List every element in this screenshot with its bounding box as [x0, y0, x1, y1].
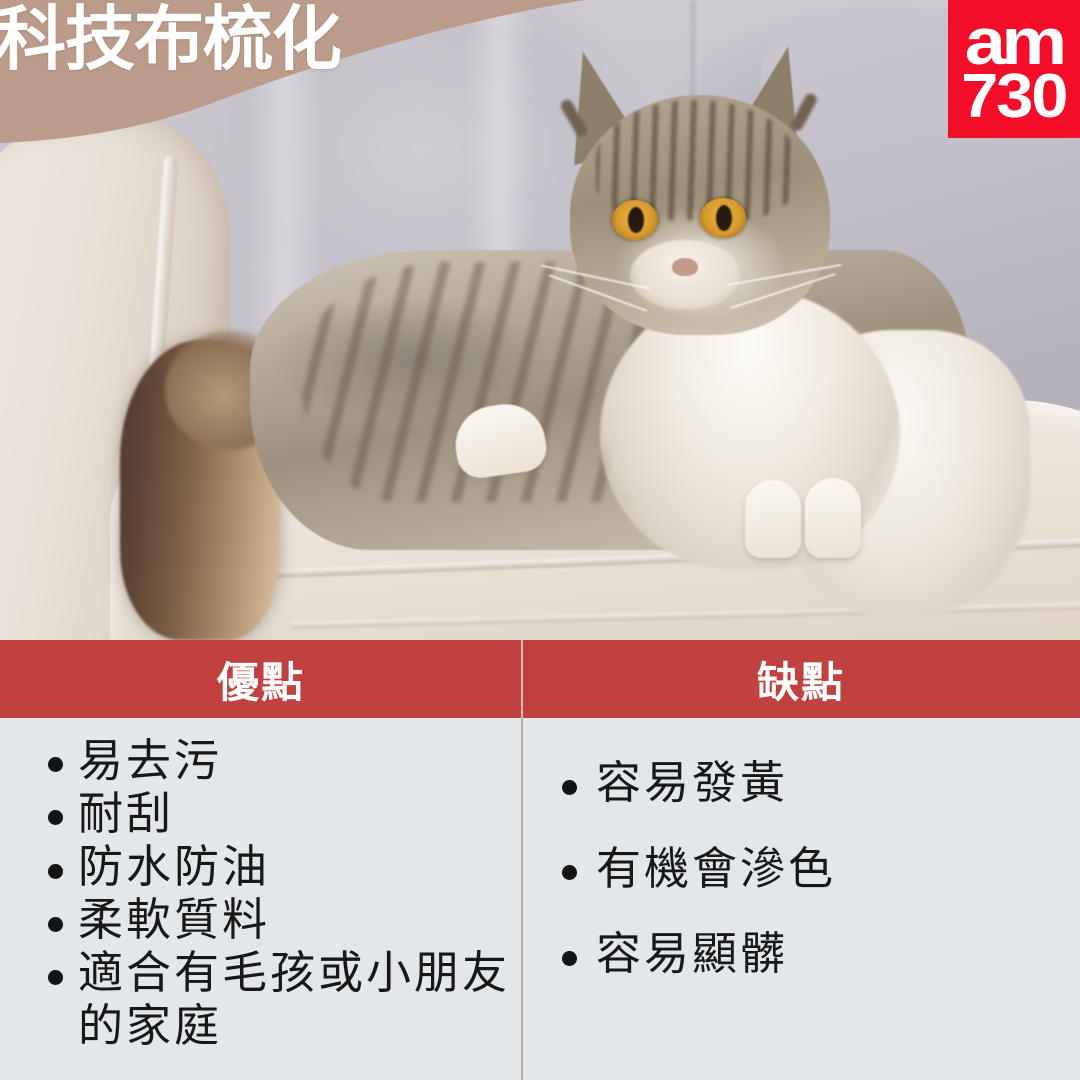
column-header-cons: 缺點	[522, 640, 1080, 718]
header-divider	[521, 640, 523, 718]
cat-paw-front-right	[745, 480, 801, 558]
page-title: 科技布梳化	[0, 4, 341, 74]
infographic-card: 科技布梳化 am 730 優點 缺點 易去污 耐刮 防水防油 柔軟質料 適合有毛…	[0, 0, 1080, 1080]
cons-list: 容易發黃 有機會滲色 容易顯髒	[522, 718, 1080, 997]
cat-pupil-left	[628, 207, 644, 233]
logo-text-730: 730	[961, 70, 1066, 123]
body-divider	[521, 718, 523, 1080]
cat-paw-front-right	[805, 478, 861, 558]
cell-pros: 易去污 耐刮 防水防油 柔軟質料 適合有毛孩或小朋友的家庭	[0, 718, 522, 1080]
pros-list: 易去污 耐刮 防水防油 柔軟質料 適合有毛孩或小朋友的家庭	[0, 718, 522, 1053]
list-item: 適合有毛孩或小朋友的家庭	[48, 946, 522, 1052]
table-header-row: 優點 缺點	[0, 640, 1080, 718]
pros-cons-table: 優點 缺點 易去污 耐刮 防水防油 柔軟質料 適合有毛孩或小朋友的家庭 容易發黃…	[0, 640, 1080, 1080]
list-item: 柔軟質料	[48, 893, 522, 946]
am730-logo[interactable]: am 730	[948, 0, 1080, 138]
list-item: 易去污	[48, 734, 522, 787]
column-header-pros: 優點	[0, 640, 522, 718]
list-item: 容易顯髒	[562, 911, 1080, 997]
cat-nose	[672, 258, 698, 276]
cat-pupil-right	[716, 205, 732, 231]
list-item: 耐刮	[48, 787, 522, 840]
list-item: 防水防油	[48, 840, 522, 893]
list-item: 有機會滲色	[562, 826, 1080, 912]
list-item: 容易發黃	[562, 740, 1080, 826]
cell-cons: 容易發黃 有機會滲色 容易顯髒	[522, 718, 1080, 1080]
title-banner: 科技布梳化	[0, 0, 620, 165]
logo-text-am: am	[965, 14, 1063, 68]
table-body: 易去污 耐刮 防水防油 柔軟質料 適合有毛孩或小朋友的家庭 容易發黃 有機會滲色…	[0, 718, 1080, 1080]
